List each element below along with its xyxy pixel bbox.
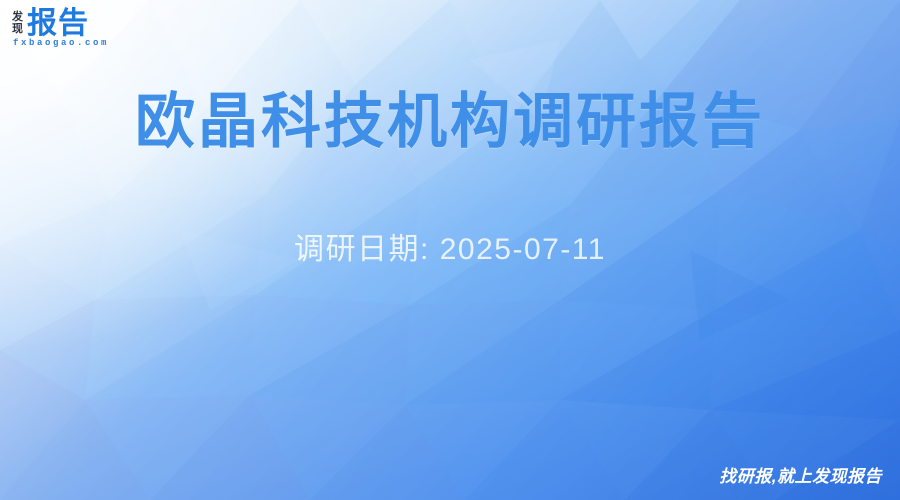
report-cover: 发 现 报告 fxbaogao.com 欧晶科技机构调研报告 调研日期: 202… bbox=[0, 0, 900, 500]
footer-slogan: 找研报,就上发现报告 bbox=[719, 466, 882, 488]
page-title: 欧晶科技机构调研报告 bbox=[0, 86, 900, 158]
logo-domain: fxbaogao.com bbox=[13, 38, 109, 48]
survey-date-subtitle: 调研日期: 2025-07-11 bbox=[0, 228, 900, 272]
logo-mark-top-char: 发 bbox=[12, 11, 23, 23]
logo-mark-bottom-char: 现 bbox=[12, 23, 23, 35]
logo-mark: 发 现 bbox=[12, 9, 23, 35]
logo-wordmark: 报告 bbox=[27, 9, 89, 39]
site-logo[interactable]: 发 现 报告 bbox=[12, 9, 89, 39]
